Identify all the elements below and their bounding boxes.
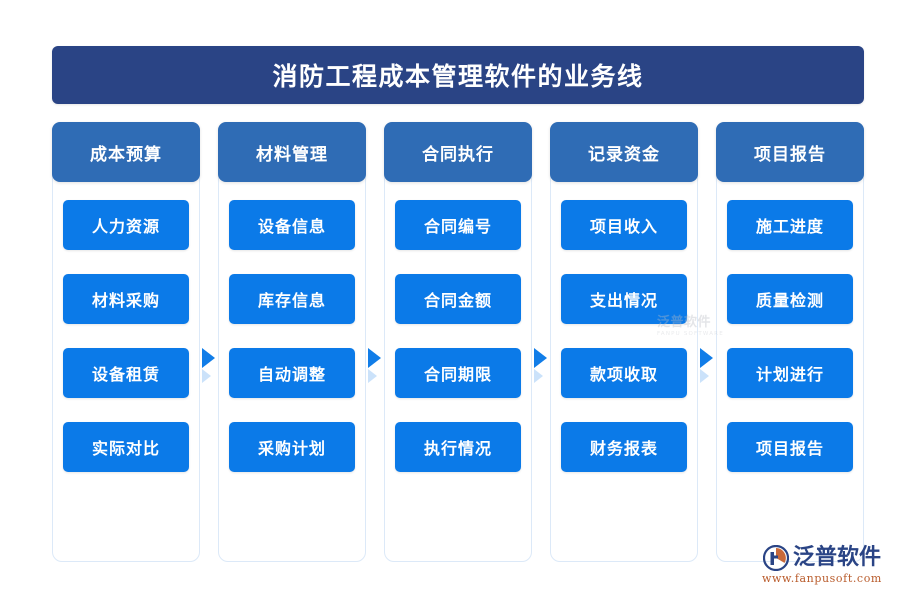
column-header-label: 记录资金	[588, 140, 660, 165]
column-header-label: 成本预算	[90, 140, 162, 165]
item-label: 人力资源	[92, 213, 160, 237]
item-box[interactable]: 采购计划	[229, 422, 355, 472]
right-triangle-arrow-icon	[368, 348, 382, 386]
column-material-management: 材料管理 设备信息 库存信息 自动调整 采购计划	[218, 122, 366, 562]
column-header-label: 材料管理	[256, 140, 328, 165]
columns-container: 成本预算 人力资源 材料采购 设备租赁 实际对比 材料管理	[52, 122, 864, 562]
item-box[interactable]: 计划进行	[727, 348, 853, 398]
item-label: 款项收取	[590, 361, 658, 385]
diagram-page: 消防工程成本管理软件的业务线 成本预算 人力资源 材料采购 设备租赁 实际对比	[0, 0, 900, 600]
item-box[interactable]: 执行情况	[395, 422, 521, 472]
item-label: 采购计划	[258, 435, 326, 459]
column-project-report: 项目报告 施工进度 质量检测 计划进行 项目报告	[716, 122, 864, 562]
column-items-1: 人力资源 材料采购 设备租赁 实际对比	[52, 200, 200, 472]
item-box[interactable]: 项目报告	[727, 422, 853, 472]
brand-url: www.fanpusoft.com	[762, 572, 882, 585]
item-label: 设备租赁	[92, 361, 160, 385]
column-header-4[interactable]: 记录资金	[550, 122, 698, 182]
arrow-reflection-shape	[368, 369, 377, 383]
column-header-5[interactable]: 项目报告	[716, 122, 864, 182]
column-items-2: 设备信息 库存信息 自动调整 采购计划	[218, 200, 366, 472]
item-label: 项目报告	[756, 435, 824, 459]
item-label: 自动调整	[258, 361, 326, 385]
item-label: 财务报表	[590, 435, 658, 459]
item-label: 合同金额	[424, 287, 492, 311]
item-box[interactable]: 财务报表	[561, 422, 687, 472]
column-header-label: 项目报告	[754, 140, 826, 165]
item-label: 执行情况	[424, 435, 492, 459]
item-box[interactable]: 合同期限	[395, 348, 521, 398]
page-title: 消防工程成本管理软件的业务线	[272, 57, 643, 93]
arrow-head-shape	[202, 348, 215, 368]
item-label: 设备信息	[258, 213, 326, 237]
item-box[interactable]: 材料采购	[63, 274, 189, 324]
brand-logo: 泛普软件 www.fanpusoft.com	[762, 545, 882, 585]
item-label: 合同期限	[424, 361, 492, 385]
item-label: 材料采购	[92, 287, 160, 311]
right-triangle-arrow-icon	[534, 348, 548, 386]
column-record-funds: 记录资金 项目收入 支出情况 款项收取 财务报表	[550, 122, 698, 562]
column-items-3: 合同编号 合同金额 合同期限 执行情况	[384, 200, 532, 472]
item-label: 质量检测	[756, 287, 824, 311]
item-box[interactable]: 库存信息	[229, 274, 355, 324]
item-box[interactable]: 支出情况	[561, 274, 687, 324]
diagram-title-bar: 消防工程成本管理软件的业务线	[52, 46, 864, 104]
column-cost-budget: 成本预算 人力资源 材料采购 设备租赁 实际对比	[52, 122, 200, 562]
column-items-5: 施工进度 质量检测 计划进行 项目报告	[716, 200, 864, 472]
column-header-2[interactable]: 材料管理	[218, 122, 366, 182]
item-label: 施工进度	[756, 213, 824, 237]
arrow-reflection-shape	[202, 369, 211, 383]
item-box[interactable]: 实际对比	[63, 422, 189, 472]
item-box[interactable]: 自动调整	[229, 348, 355, 398]
column-items-4: 项目收入 支出情况 款项收取 财务报表	[550, 200, 698, 472]
item-box[interactable]: 项目收入	[561, 200, 687, 250]
arrow-head-shape	[700, 348, 713, 368]
fanpu-circle-logo-icon	[763, 545, 789, 571]
arrow-reflection-shape	[700, 369, 709, 383]
item-box[interactable]: 合同编号	[395, 200, 521, 250]
right-triangle-arrow-icon	[700, 348, 714, 386]
column-header-1[interactable]: 成本预算	[52, 122, 200, 182]
item-label: 计划进行	[756, 361, 824, 385]
item-box[interactable]: 质量检测	[727, 274, 853, 324]
column-contract-execution: 合同执行 合同编号 合同金额 合同期限 执行情况	[384, 122, 532, 562]
item-label: 项目收入	[590, 213, 658, 237]
item-box[interactable]: 设备租赁	[63, 348, 189, 398]
item-label: 支出情况	[590, 287, 658, 311]
brand-row: 泛普软件	[763, 545, 881, 571]
arrow-head-shape	[368, 348, 381, 368]
column-header-label: 合同执行	[422, 140, 494, 165]
item-box[interactable]: 合同金额	[395, 274, 521, 324]
item-box[interactable]: 施工进度	[727, 200, 853, 250]
column-header-3[interactable]: 合同执行	[384, 122, 532, 182]
item-label: 库存信息	[258, 287, 326, 311]
item-label: 实际对比	[92, 435, 160, 459]
item-box[interactable]: 款项收取	[561, 348, 687, 398]
arrow-head-shape	[534, 348, 547, 368]
item-label: 合同编号	[424, 213, 492, 237]
right-triangle-arrow-icon	[202, 348, 216, 386]
brand-name: 泛普软件	[793, 547, 881, 569]
item-box[interactable]: 人力资源	[63, 200, 189, 250]
item-box[interactable]: 设备信息	[229, 200, 355, 250]
arrow-reflection-shape	[534, 369, 543, 383]
